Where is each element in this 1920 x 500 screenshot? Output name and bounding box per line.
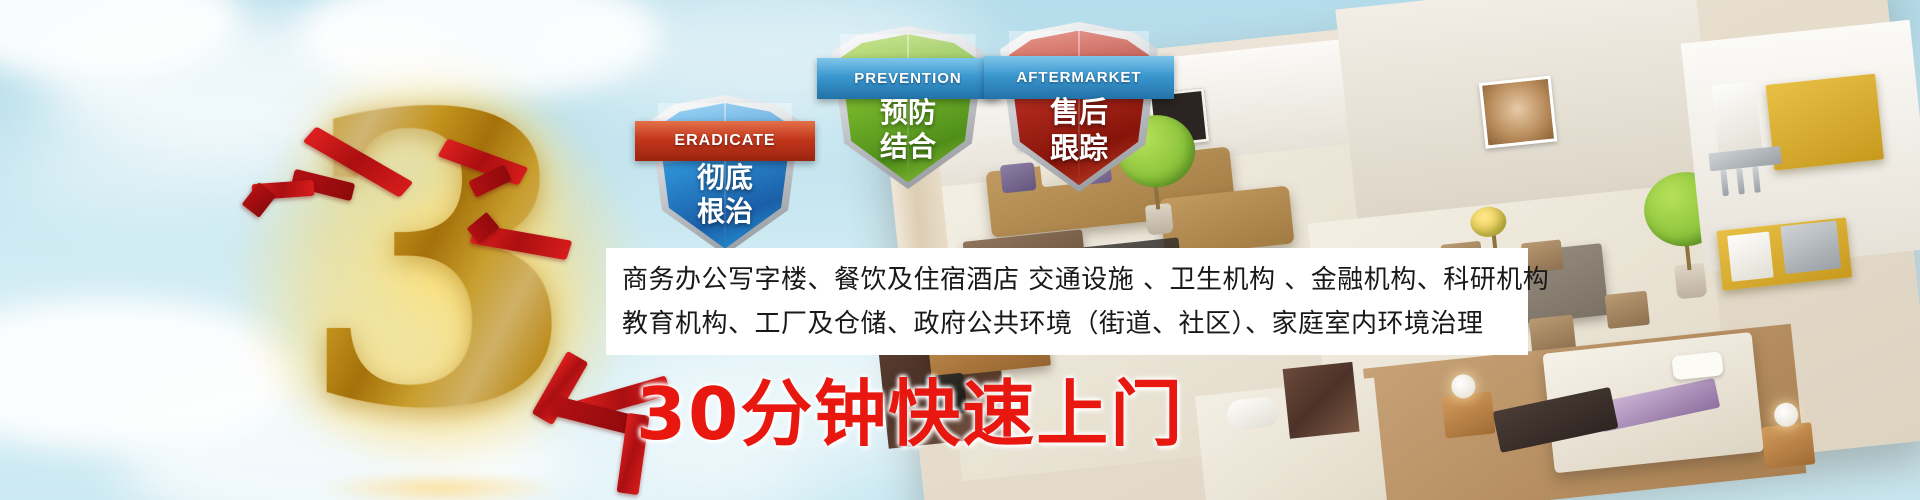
badge-eradicate[interactable]: ERADICATE 彻底 根治 [650,95,800,255]
dishwasher [1780,220,1841,274]
badge-chinese-line2: 跟踪 [1000,134,1158,165]
service-scope-panel: 商务办公写字楼、餐饮及住宿酒店 交通设施 、卫生机构 、金融机构、科研机构 教育… [606,248,1528,355]
refrigerator [1711,81,1762,157]
badge-aftermarket[interactable]: AFTERMARKET 售后 跟踪 [1000,22,1158,192]
badge-english-ribbon: ERADICATE [635,121,815,161]
nightstand [1441,391,1495,438]
numeral-sparkle [320,476,560,500]
badge-chinese-line2: 根治 [650,197,800,227]
marble-column [1283,362,1360,439]
badge-english-ribbon: PREVENTION [817,58,999,99]
kitchen-upper-cabinet [1766,74,1884,171]
badge-english-ribbon: AFTERMARKET [984,56,1174,99]
badge-chinese-line1: 彻底 [650,163,800,193]
badge-chinese-line1: 售后 [1000,98,1158,129]
service-scope-banner: 3 ERADICATE 彻底 根治 PREVENTION 预防 结合 [0,0,1920,500]
badge-chinese-line1: 预防 [832,98,984,128]
headline-text: 30分钟快速上门 [636,355,1184,460]
service-scope-line-1: 商务办公写字楼、餐饮及住宿酒店 交通设施 、卫生机构 、金融机构、科研机构 [622,258,1528,302]
nightstand [1761,422,1815,469]
wall-portrait [1479,76,1558,149]
badge-chinese-line2: 结合 [832,132,984,162]
service-scope-line-2: 教育机构、工厂及仓储、政府公共环境（街道、社区）、家庭室内环境治理 [622,302,1528,346]
oven [1727,232,1774,282]
badge-prevention[interactable]: PREVENTION 预防 结合 [832,26,984,189]
dining-chair [1605,291,1650,329]
